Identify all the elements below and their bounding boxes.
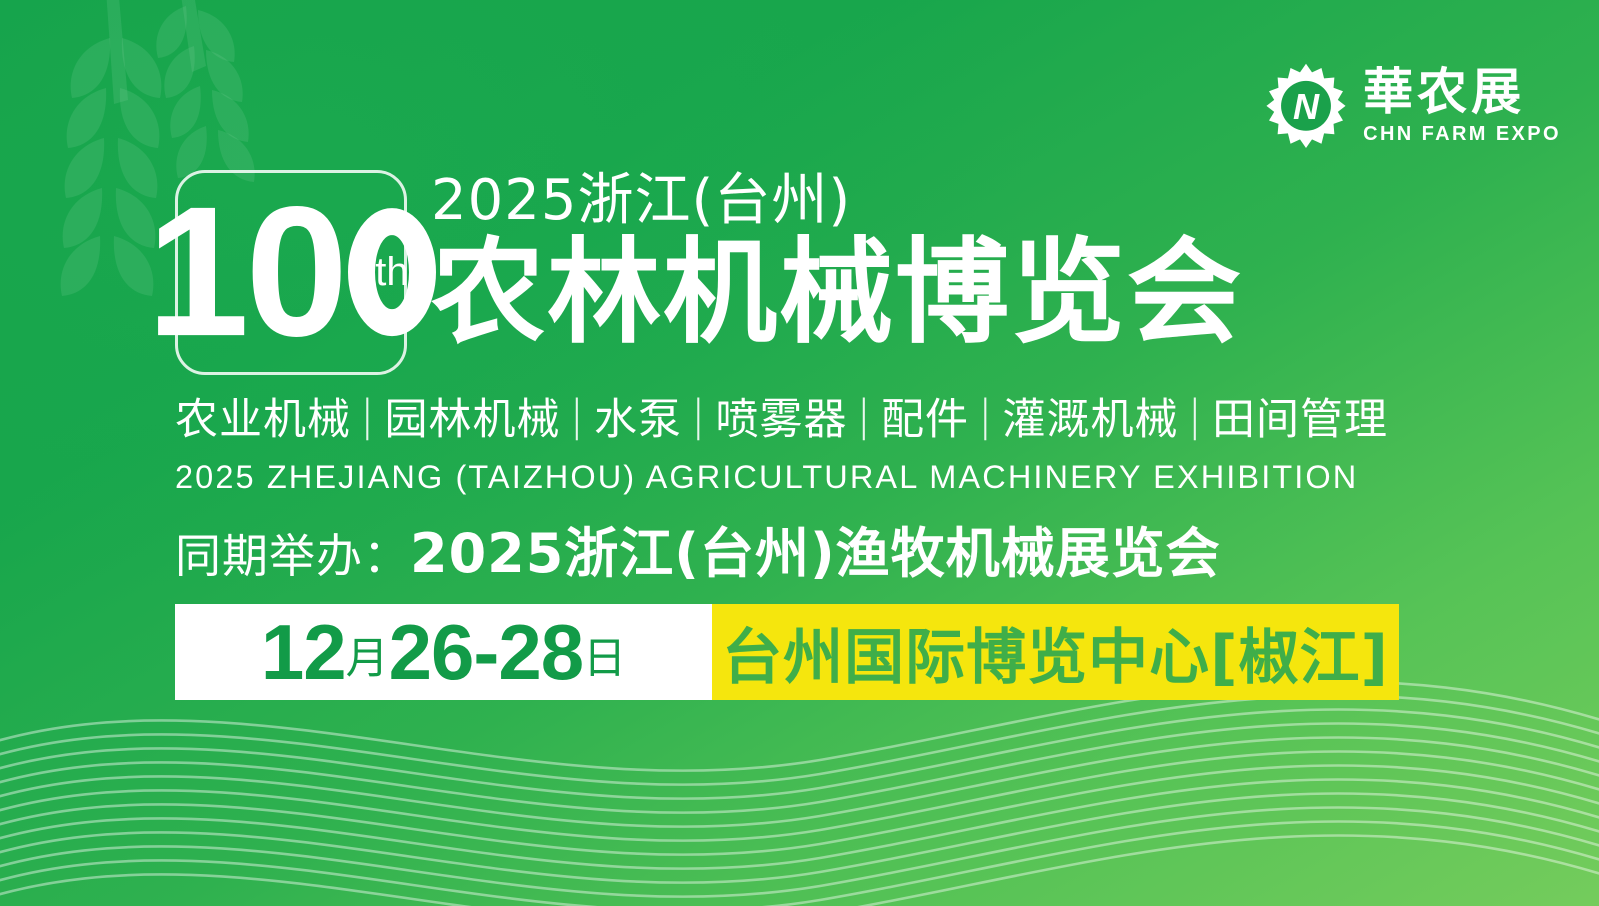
edition-number: 10 [146,197,344,349]
brand-text: 華农展 CHN FARM EXPO [1363,67,1561,144]
brand-logo: N 華农展 CHN FARM EXPO [1263,62,1561,148]
event-date: 12 月 26-28 日 [175,604,712,700]
event-month-number: 12 [261,613,346,691]
brand-name-en: CHN FARM EXPO [1363,124,1561,144]
concurrent-value: 2025浙江(台州)渔牧机械展览会 [410,509,1221,588]
title-group: 2025浙江(台州) 农林机械博览会 [431,170,1243,354]
category-separator: | [691,391,707,441]
brand-name-cn: 華农展 [1363,67,1525,117]
edition-ordinal: th [375,253,408,293]
category-separator: | [360,391,376,441]
category-item: 配件 [881,385,969,447]
page-title: 农林机械博览会 [431,231,1243,354]
event-venue: 台州国际博览中心[椒江] [712,604,1399,700]
concurrent-event: 同期举办： 2025浙江(台州)渔牧机械展览会 [175,509,1405,588]
category-item: 喷雾器 [716,385,848,447]
event-month-unit: 月 [346,638,389,681]
category-item: 田间管理 [1212,385,1388,447]
subtitle: 2025浙江(台州) [431,172,1243,229]
event-day-range: 26-28 [389,613,584,691]
english-title: 2025 ZHEJIANG (TAIZHOU) AGRICULTURAL MAC… [175,459,1405,496]
category-item: 水泵 [594,385,682,447]
category-separator: | [978,391,994,441]
category-item: 园林机械 [385,385,561,447]
category-separator: | [570,391,586,441]
event-day-unit: 日 [583,638,626,681]
category-separator: | [857,391,873,441]
svg-text:N: N [1293,86,1320,127]
title-row: 10 th 2025浙江(台州) 农林机械博览会 [175,170,1405,375]
poster-canvas: N 華农展 CHN FARM EXPO 10 th 2025浙江(台州) 农林机… [0,0,1599,906]
event-info-bar: 12 月 26-28 日 台州国际博览中心[椒江] [175,604,1399,700]
concurrent-label: 同期举办： [175,520,410,586]
edition-ring: th [348,209,435,337]
category-list: 农业机械|园林机械|水泵|喷雾器|配件|灌溉机械|田间管理 [175,385,1405,447]
edition-badge: 10 th [175,170,407,375]
gear-n-logo-icon: N [1263,62,1349,148]
category-item: 灌溉机械 [1003,385,1179,447]
category-item: 农业机械 [175,385,351,447]
category-separator: | [1188,391,1204,441]
main-content: 10 th 2025浙江(台州) 农林机械博览会 农业机械|园林机械|水泵|喷雾… [175,170,1405,700]
